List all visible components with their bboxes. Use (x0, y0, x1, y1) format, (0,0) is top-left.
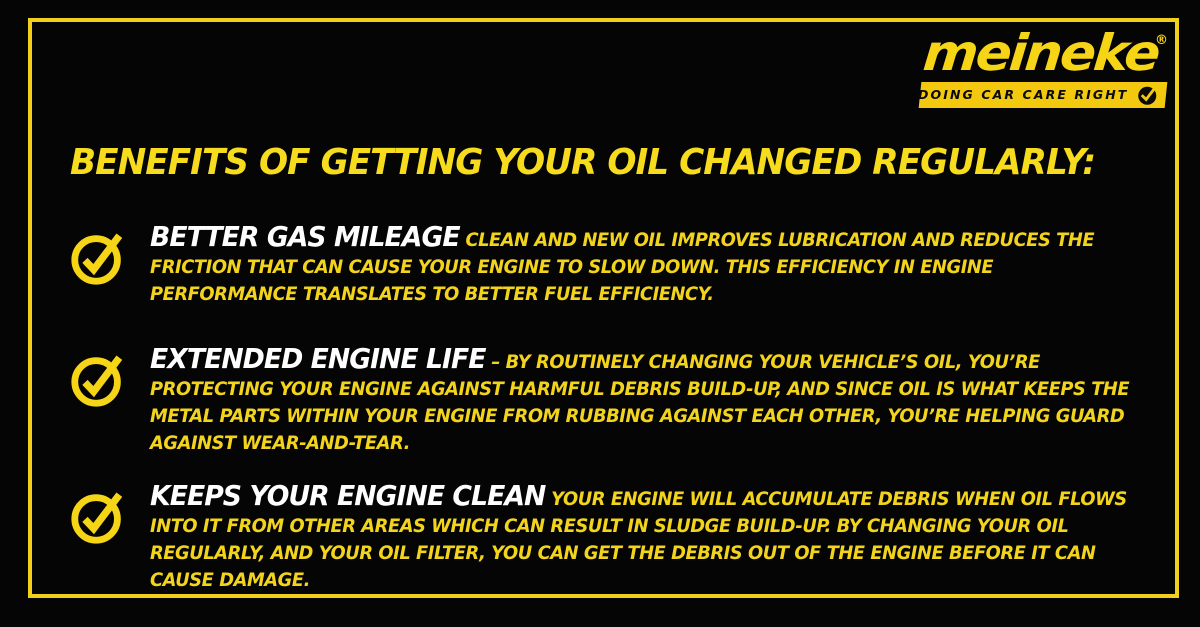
logo-tagline-banner-inner: DOING CAR CARE RIGHT (918, 83, 1160, 107)
meineke-logo[interactable]: meineke ® DOING CAR CARE RIGHT (916, 30, 1166, 112)
benefits-list: BETTER GAS MILEAGECLEAN AND NEW OIL IMPR… (62, 224, 1174, 594)
check-circle-icon (68, 226, 130, 288)
list-item-title: KEEPS YOUR ENGINE CLEAN (150, 480, 545, 512)
list-item-text: EXTENDED ENGINE LIFE– BY ROUTINELY CHANG… (150, 346, 1143, 457)
poster-canvas: meineke ® DOING CAR CARE RIGHT BENEFITS … (0, 0, 1200, 627)
check-circle-icon (68, 348, 130, 410)
check-circle-icon (1136, 83, 1160, 107)
page-title: BENEFITS OF GETTING YOUR OIL CHANGED REG… (70, 143, 1095, 182)
registered-trademark-symbol: ® (1155, 34, 1168, 47)
list-item-text: BETTER GAS MILEAGECLEAN AND NEW OIL IMPR… (150, 224, 1143, 308)
check-circle-icon (68, 485, 130, 547)
logo-tagline-banner: DOING CAR CARE RIGHT (919, 82, 1168, 108)
list-item-text: KEEPS YOUR ENGINE CLEANYOUR ENGINE WILL … (150, 483, 1143, 594)
logo-wordmark: meineke (921, 28, 1160, 78)
list-item-title: BETTER GAS MILEAGE (150, 221, 460, 253)
list-item-separator: – (491, 352, 505, 373)
list-item: BETTER GAS MILEAGECLEAN AND NEW OIL IMPR… (62, 224, 1174, 320)
logo-tagline-text: DOING CAR CARE RIGHT (918, 89, 1128, 102)
list-item: KEEPS YOUR ENGINE CLEANYOUR ENGINE WILL … (62, 483, 1174, 594)
list-item-title: EXTENDED ENGINE LIFE (150, 343, 485, 375)
list-item: EXTENDED ENGINE LIFE– BY ROUTINELY CHANG… (62, 346, 1174, 457)
